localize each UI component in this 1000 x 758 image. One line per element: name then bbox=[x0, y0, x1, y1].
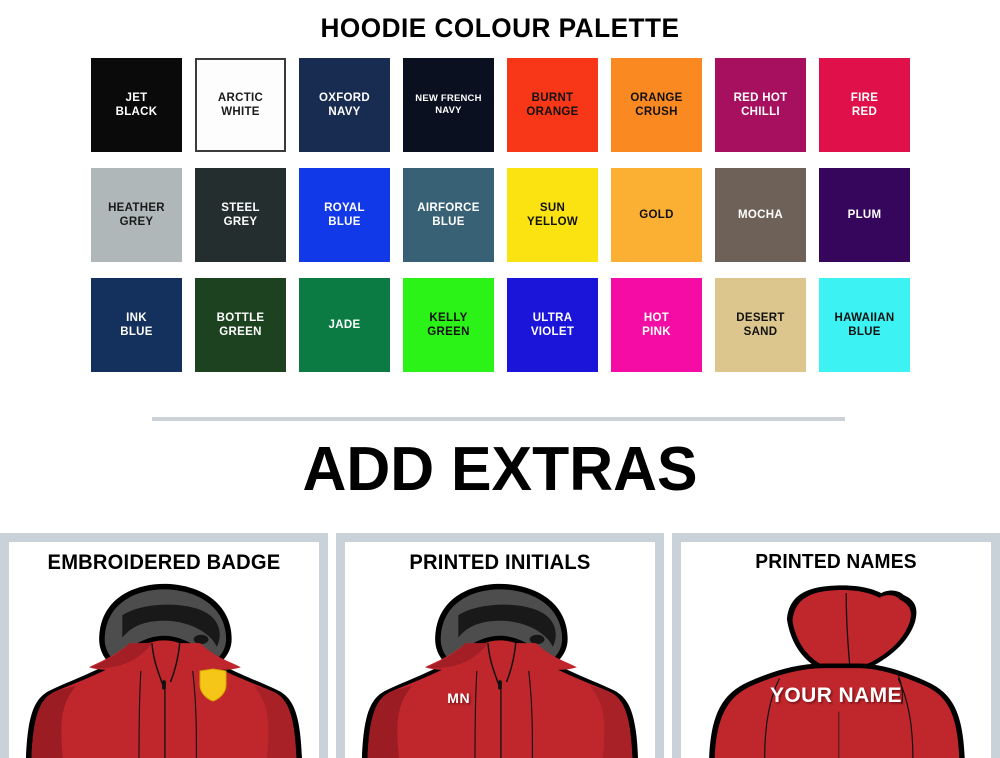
colour-swatch-label: STEELGREY bbox=[221, 201, 260, 229]
colour-swatch[interactable]: MOCHA bbox=[715, 168, 806, 262]
colour-swatch[interactable]: STEELGREY bbox=[195, 168, 286, 262]
printed-initials-text: MN bbox=[447, 690, 470, 706]
colour-swatch[interactable]: PLUM bbox=[819, 168, 910, 262]
colour-swatch[interactable]: OXFORDNAVY bbox=[299, 58, 390, 152]
colour-swatch[interactable]: ARCTICWHITE bbox=[195, 58, 286, 152]
colour-swatch[interactable]: JADE bbox=[299, 278, 390, 372]
colour-swatch-label: MOCHA bbox=[738, 208, 783, 222]
extras-card-row: EMBROIDERED BADGE bbox=[0, 533, 1000, 758]
extras-card-printed-names[interactable]: PRINTED NAMES YOUR NAME bbox=[672, 533, 1000, 758]
hoodie-front-illustration bbox=[9, 582, 319, 758]
colour-swatch[interactable]: RED HOTCHILLI bbox=[715, 58, 806, 152]
colour-swatch-label: DESERTSAND bbox=[736, 311, 784, 339]
colour-palette-grid: JETBLACKARCTICWHITEOXFORDNAVYNEW FRENCHN… bbox=[91, 58, 909, 372]
colour-swatch[interactable]: ULTRAVIOLET bbox=[507, 278, 598, 372]
colour-swatch-label: INKBLUE bbox=[120, 311, 153, 339]
colour-swatch[interactable]: BOTTLEGREEN bbox=[195, 278, 286, 372]
section-divider bbox=[152, 417, 845, 421]
add-extras-heading: ADD EXTRAS bbox=[10, 439, 990, 501]
hoodie-front-illustration bbox=[345, 582, 655, 758]
card-title: PRINTED INITIALS bbox=[351, 551, 649, 575]
colour-swatch-label: OXFORDNAVY bbox=[319, 91, 370, 119]
colour-swatch-label: KELLYGREEN bbox=[427, 311, 469, 339]
colour-swatch[interactable]: ORANGECRUSH bbox=[611, 58, 702, 152]
colour-swatch-label: AIRFORCEBLUE bbox=[417, 201, 479, 229]
colour-swatch-label: GOLD bbox=[639, 208, 673, 222]
colour-swatch-label: HAWAIIANBLUE bbox=[835, 311, 895, 339]
colour-swatch-label: BOTTLEGREEN bbox=[217, 311, 265, 339]
colour-swatch[interactable]: NEW FRENCHNAVY bbox=[403, 58, 494, 152]
colour-swatch-label: HEATHERGREY bbox=[108, 201, 165, 229]
colour-swatch[interactable]: HAWAIIANBLUE bbox=[819, 278, 910, 372]
extras-card-printed-initials[interactable]: PRINTED INITIALS MN bbox=[336, 533, 664, 758]
colour-swatch[interactable]: HEATHERGREY bbox=[91, 168, 182, 262]
colour-swatch-label: JADE bbox=[329, 318, 361, 332]
colour-swatch[interactable]: BURNTORANGE bbox=[507, 58, 598, 152]
page-title: HOODIE COLOUR PALETTE bbox=[15, 14, 985, 44]
colour-swatch-label: HOTPINK bbox=[642, 311, 671, 339]
colour-swatch-label: PLUM bbox=[848, 208, 882, 222]
colour-swatch[interactable]: ROYALBLUE bbox=[299, 168, 390, 262]
colour-swatch[interactable]: HOTPINK bbox=[611, 278, 702, 372]
colour-swatch[interactable]: INKBLUE bbox=[91, 278, 182, 372]
colour-swatch-label: JETBLACK bbox=[116, 91, 158, 119]
colour-swatch[interactable]: KELLYGREEN bbox=[403, 278, 494, 372]
colour-swatch[interactable]: JETBLACK bbox=[91, 58, 182, 152]
colour-swatch-label: FIRERED bbox=[851, 91, 878, 119]
colour-swatch-label: ULTRAVIOLET bbox=[531, 311, 574, 339]
colour-swatch-label: ROYALBLUE bbox=[324, 201, 365, 229]
colour-swatch-label: SUNYELLOW bbox=[527, 201, 578, 229]
hoodie-back-illustration bbox=[681, 582, 991, 758]
colour-swatch[interactable]: DESERTSAND bbox=[715, 278, 806, 372]
colour-swatch-label: BURNTORANGE bbox=[526, 91, 578, 119]
colour-swatch[interactable]: AIRFORCEBLUE bbox=[403, 168, 494, 262]
card-title: EMBROIDERED BADGE bbox=[15, 551, 313, 575]
colour-swatch-label: ARCTICWHITE bbox=[218, 91, 263, 119]
printed-name-text: YOUR NAME bbox=[770, 684, 902, 708]
colour-swatch[interactable]: SUNYELLOW bbox=[507, 168, 598, 262]
colour-swatch[interactable]: GOLD bbox=[611, 168, 702, 262]
embroidered-badge-shield bbox=[198, 668, 228, 707]
extras-card-embroidered-badge[interactable]: EMBROIDERED BADGE bbox=[0, 533, 328, 758]
colour-swatch[interactable]: FIRERED bbox=[819, 58, 910, 152]
colour-swatch-label: NEW FRENCHNAVY bbox=[415, 93, 481, 116]
colour-swatch-label: RED HOTCHILLI bbox=[734, 91, 788, 119]
card-title: PRINTED NAMES bbox=[687, 551, 985, 574]
colour-swatch-label: ORANGECRUSH bbox=[630, 91, 682, 119]
